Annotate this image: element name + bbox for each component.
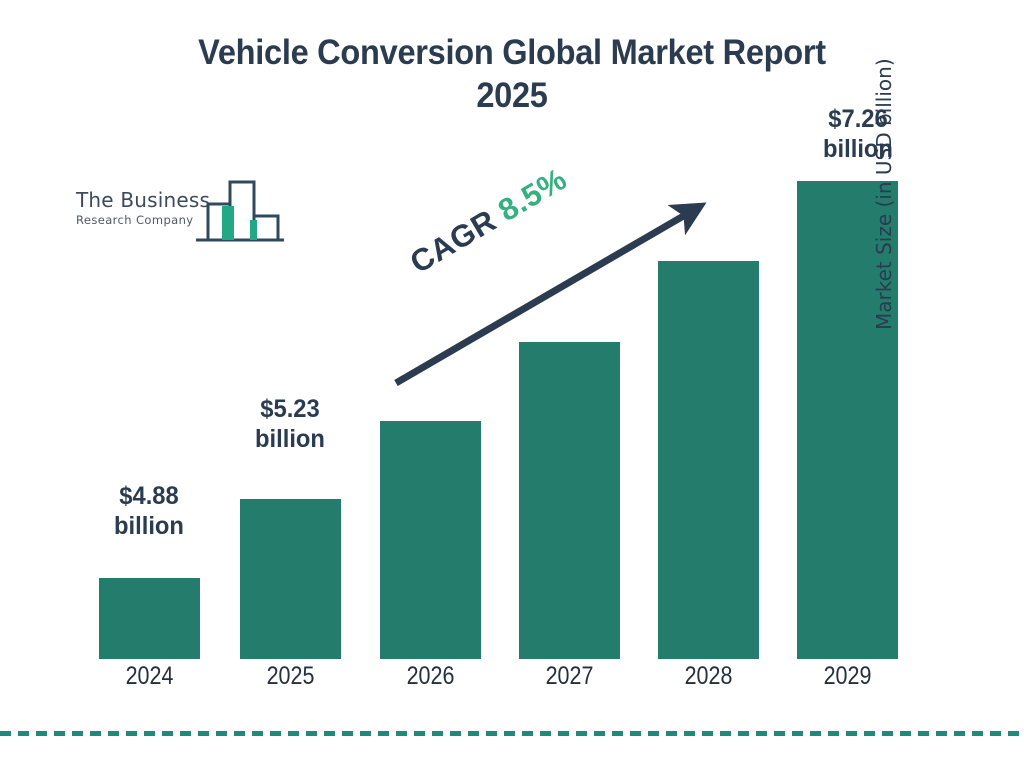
x-tick-2029: 2029: [804, 662, 891, 691]
bar-2025: [240, 499, 341, 659]
x-tick-2024: 2024: [106, 662, 193, 691]
bar-value-2025: $5.23 billion: [214, 395, 366, 454]
x-tick-2028: 2028: [665, 662, 752, 691]
cagr-label: CAGR: [404, 198, 510, 280]
bar-value-2029: $7.26 billion: [782, 105, 934, 164]
cagr-annotation: CAGR 8.5%: [404, 161, 573, 281]
cagr-value: 8.5%: [492, 161, 572, 228]
bar-chart-plot: $4.88 billion $5.23 billion $7.26 billio…: [0, 0, 1024, 768]
bar-2028: [658, 261, 759, 659]
x-tick-2027: 2027: [526, 662, 613, 691]
chart-page: Vehicle Conversion Global Market Report …: [0, 0, 1024, 768]
bar-2024: [99, 578, 200, 659]
footer-divider: [0, 731, 1024, 736]
bar-2026: [380, 421, 481, 659]
x-tick-2025: 2025: [247, 662, 334, 691]
bar-value-2024: $4.88 billion: [73, 482, 225, 541]
y-axis-label: Market Size (in USD billion): [872, 10, 896, 330]
x-tick-2026: 2026: [387, 662, 474, 691]
bar-2027: [519, 342, 620, 659]
